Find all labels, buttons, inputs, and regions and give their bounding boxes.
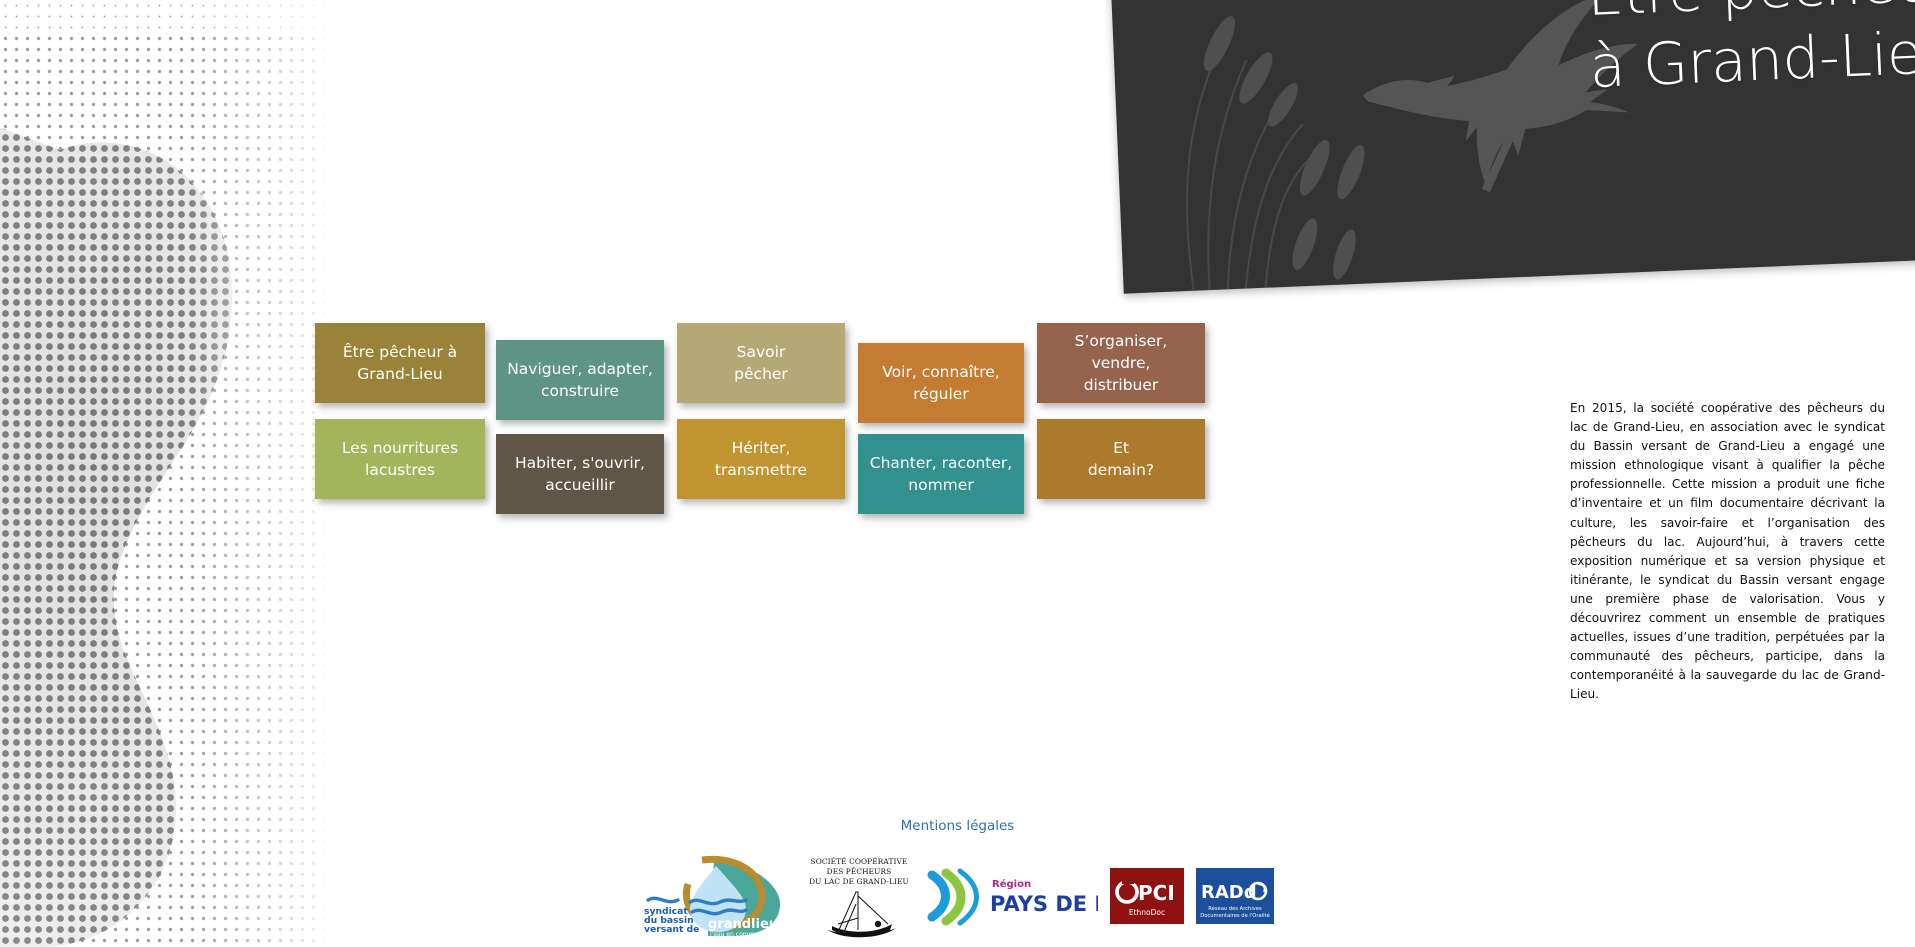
page-root: Être pêcheur à Grand-Lieu Être pêcheur à… [0, 0, 1915, 947]
svg-text:SOCIÉTÉ COOPÉRATIVE: SOCIÉTÉ COOPÉRATIVE [810, 857, 907, 866]
nav-tile[interactable]: Voir, connaître, réguler [858, 343, 1024, 423]
svg-text:DU LAC DE GRAND-LIEU: DU LAC DE GRAND-LIEU [809, 877, 909, 886]
svg-text:PCI: PCI [1138, 881, 1175, 905]
raddo-logo[interactable]: RADd Réseau des Archives Documentaires d… [1196, 868, 1274, 929]
svg-text:DES PÊCHEURS: DES PÊCHEURS [826, 867, 891, 876]
svg-text:EthnoDoc: EthnoDoc [1128, 908, 1164, 917]
mentions-legales-link[interactable]: Mentions légales [0, 818, 1915, 834]
syndicat-bassin-versant-grandlieu-logo[interactable]: syndicat du bassin versant de grandlieu … [642, 852, 792, 945]
footer: Mentions légales syndicat du bassi [0, 818, 1915, 944]
svg-text:Réseau des Archives: Réseau des Archives [1208, 905, 1262, 912]
region-pays-de-la-loire-logo[interactable]: Région PAYS DE LA LOIRE [926, 865, 1098, 932]
page-title: Être pêcheur à Grand-Lieu [1585, 0, 1915, 104]
navigation-tile-grid: Être pêcheur à Grand-LieuNaviguer, adapt… [315, 323, 1205, 523]
header-banner: Être pêcheur à Grand-Lieu [1110, 0, 1915, 294]
svg-text:Documentaires de l'Oralité: Documentaires de l'Oralité [1200, 912, 1270, 919]
nav-tile[interactable]: Habiter, s'ouvrir, accueillir [496, 434, 664, 514]
nav-tile[interactable]: Naviguer, adapter, construire [496, 340, 664, 420]
svg-text:l'eau en commun: l'eau en commun [710, 931, 762, 938]
societe-cooperative-pecheurs-logo[interactable]: SOCIÉTÉ COOPÉRATIVE DES PÊCHEURS DU LAC … [804, 852, 914, 945]
nav-tile[interactable]: Savoir pêcher [677, 323, 845, 403]
svg-text:versant de: versant de [644, 924, 699, 935]
nav-tile[interactable]: Hériter, transmettre [677, 419, 845, 499]
opci-ethnodoc-logo[interactable]: PCI EthnoDoc [1110, 868, 1184, 929]
svg-text:PAYS DE LA LOIRE: PAYS DE LA LOIRE [990, 892, 1098, 916]
intro-paragraph: En 2015, la société coopérative des pêch… [1570, 399, 1885, 705]
svg-text:RADd: RADd [1201, 882, 1257, 903]
nav-tile[interactable]: Chanter, raconter, nommer [858, 434, 1024, 514]
nav-tile[interactable]: S’organiser, vendre, distribuer [1037, 323, 1205, 403]
nav-tile[interactable]: Être pêcheur à Grand-Lieu [315, 323, 485, 403]
partner-logo-row: syndicat du bassin versant de grandlieu … [0, 852, 1915, 944]
nav-tile[interactable]: Et demain? [1037, 419, 1205, 499]
svg-text:grandlieu: grandlieu [708, 917, 778, 932]
halftone-dot-decoration [0, 0, 345, 947]
svg-text:Région: Région [992, 878, 1031, 890]
nav-tile[interactable]: Les nourritures lacustres [315, 419, 485, 499]
